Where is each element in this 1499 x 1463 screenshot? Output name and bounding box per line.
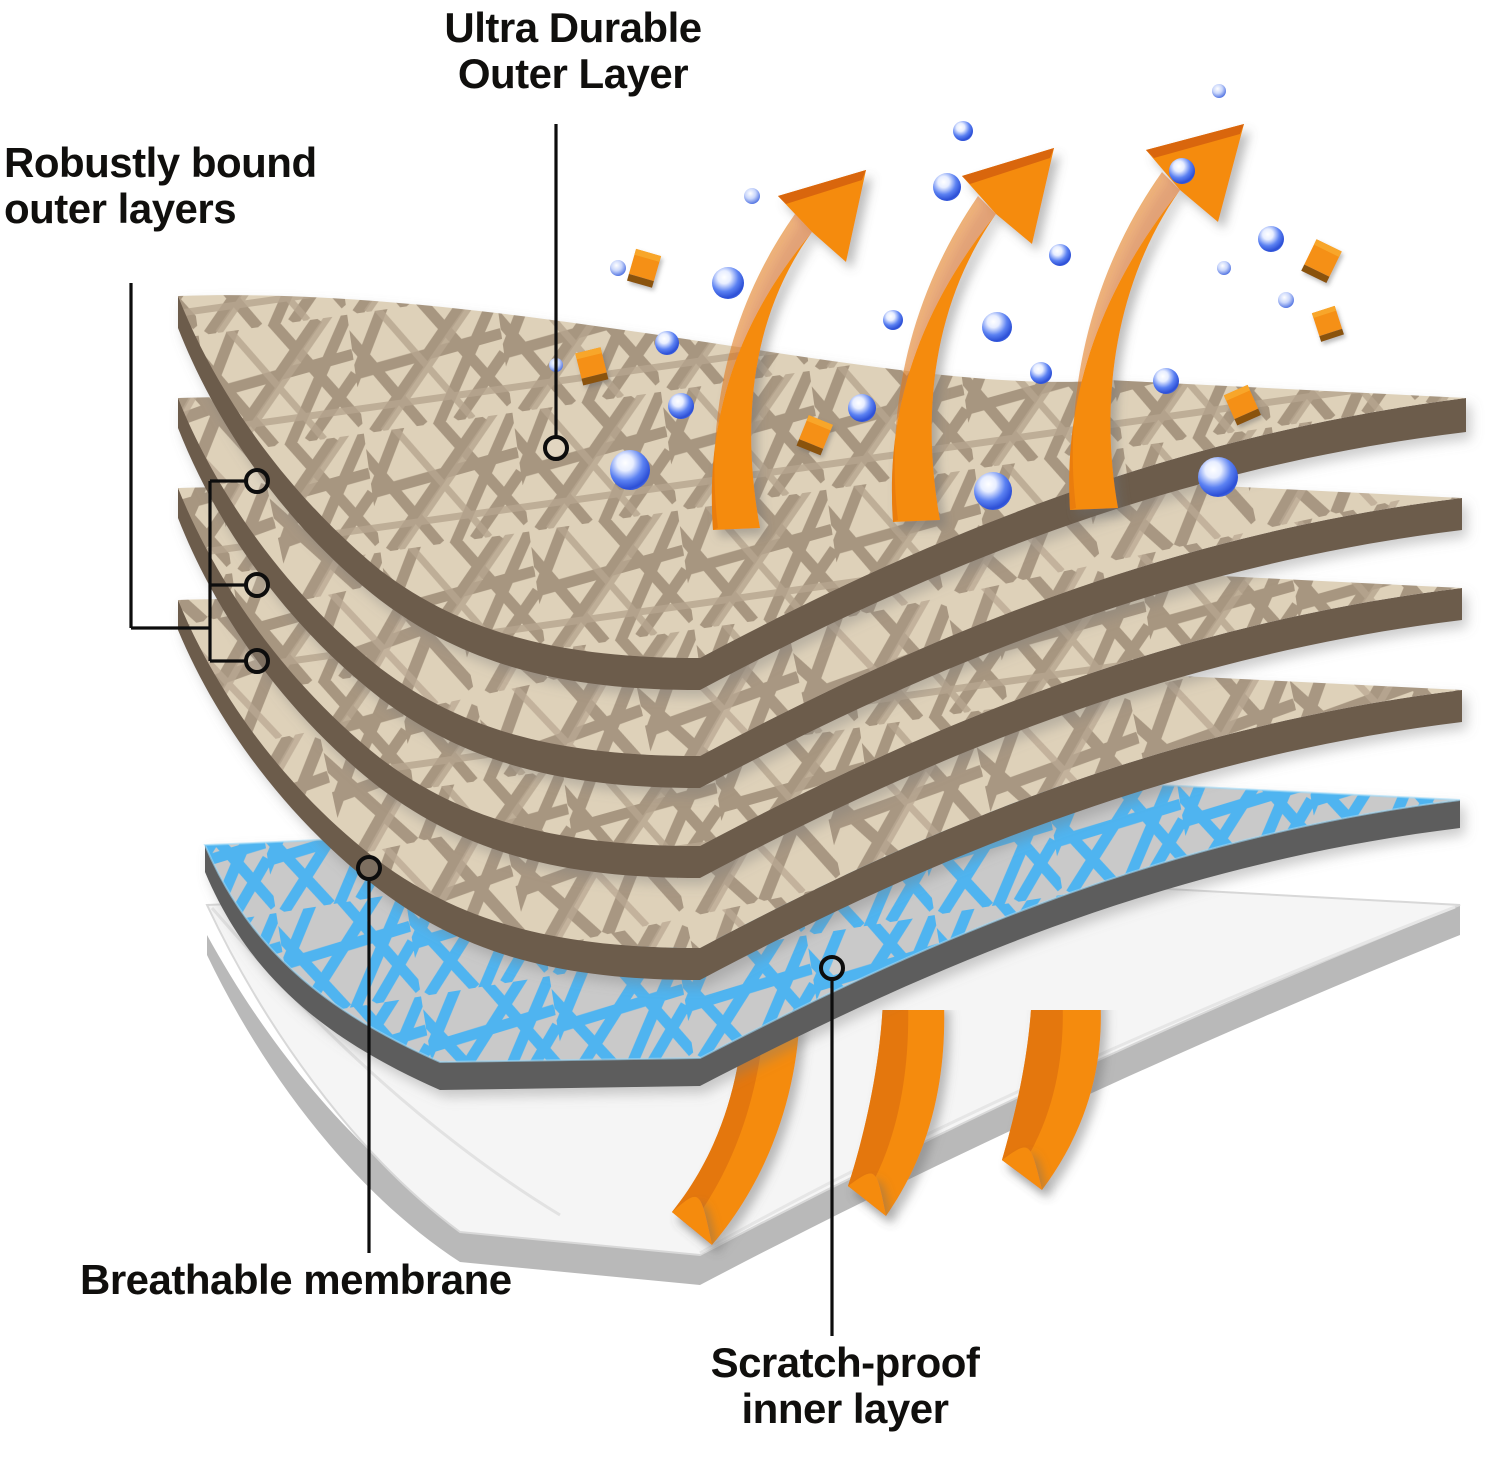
diagram-canvas: Ultra Durable Outer Layer Robustly bound…	[0, 0, 1499, 1463]
callout-label-bound-outer-layers: Robustly bound outer layers	[4, 140, 434, 232]
marker-breathable-membrane	[358, 857, 380, 879]
marker-bound-2	[246, 574, 268, 596]
marker-bound-1	[246, 470, 268, 492]
callout-label-outer-layer: Ultra Durable Outer Layer	[393, 5, 753, 97]
marker-bound-3	[246, 650, 268, 672]
callout-label-scratch-proof-inner-layer: Scratch-proof inner layer	[655, 1340, 1035, 1432]
dirt-cube-1	[627, 249, 661, 288]
marker-scratch-proof	[821, 957, 843, 979]
dirt-cube-3	[1301, 239, 1342, 283]
dirt-cube-4	[1312, 306, 1344, 342]
marker-outer-layer	[545, 437, 567, 459]
callout-label-breathable-membrane: Breathable membrane	[80, 1257, 700, 1303]
